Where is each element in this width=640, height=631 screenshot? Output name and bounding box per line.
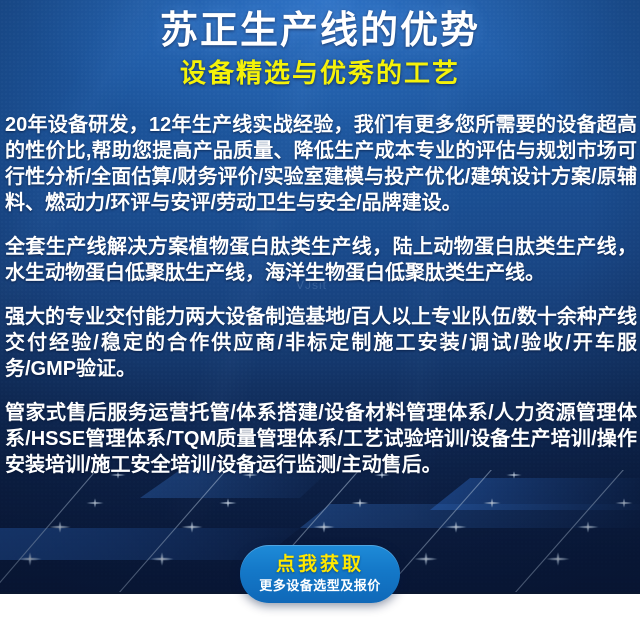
paragraph-product-lines: 全套生产线解决方案植物蛋白肽类生产线，陆上动物蛋白肽类生产线，水生动物蛋白低聚肽… (5, 234, 637, 286)
paragraph-capability: 20年设备研发，12年生产线实战经验，我们有更多您所需要的设备超高的性价比,帮助… (5, 112, 637, 216)
page-subtitle: 设备精选与优秀的工艺 (0, 54, 640, 90)
paragraph-after-sales: 管家式售后服务运营托管/体系搭建/设备材料管理体系/人力资源管理体系/HSSE管… (5, 400, 637, 478)
promo-poster: 苏正生产线的优势 设备精选与优秀的工艺 20年设备研发，12年生产线实战经验，我… (0, 0, 640, 631)
paragraph-delivery: 强大的专业交付能力两大设备制造基地/百人以上专业队伍/数十余种产线交付经验/稳定… (5, 304, 637, 382)
page-title: 苏正生产线的优势 (0, 8, 640, 54)
cta-sub-label: 更多设备选型及报价 (259, 576, 381, 594)
poster-header: 苏正生产线的优势 设备精选与优秀的工艺 (0, 8, 640, 90)
cta-main-label: 点我获取 (276, 554, 364, 576)
get-quote-button[interactable]: 点我获取 更多设备选型及报价 (240, 545, 400, 603)
body-copy: 20年设备研发，12年生产线实战经验，我们有更多您所需要的设备超高的性价比,帮助… (5, 112, 637, 478)
